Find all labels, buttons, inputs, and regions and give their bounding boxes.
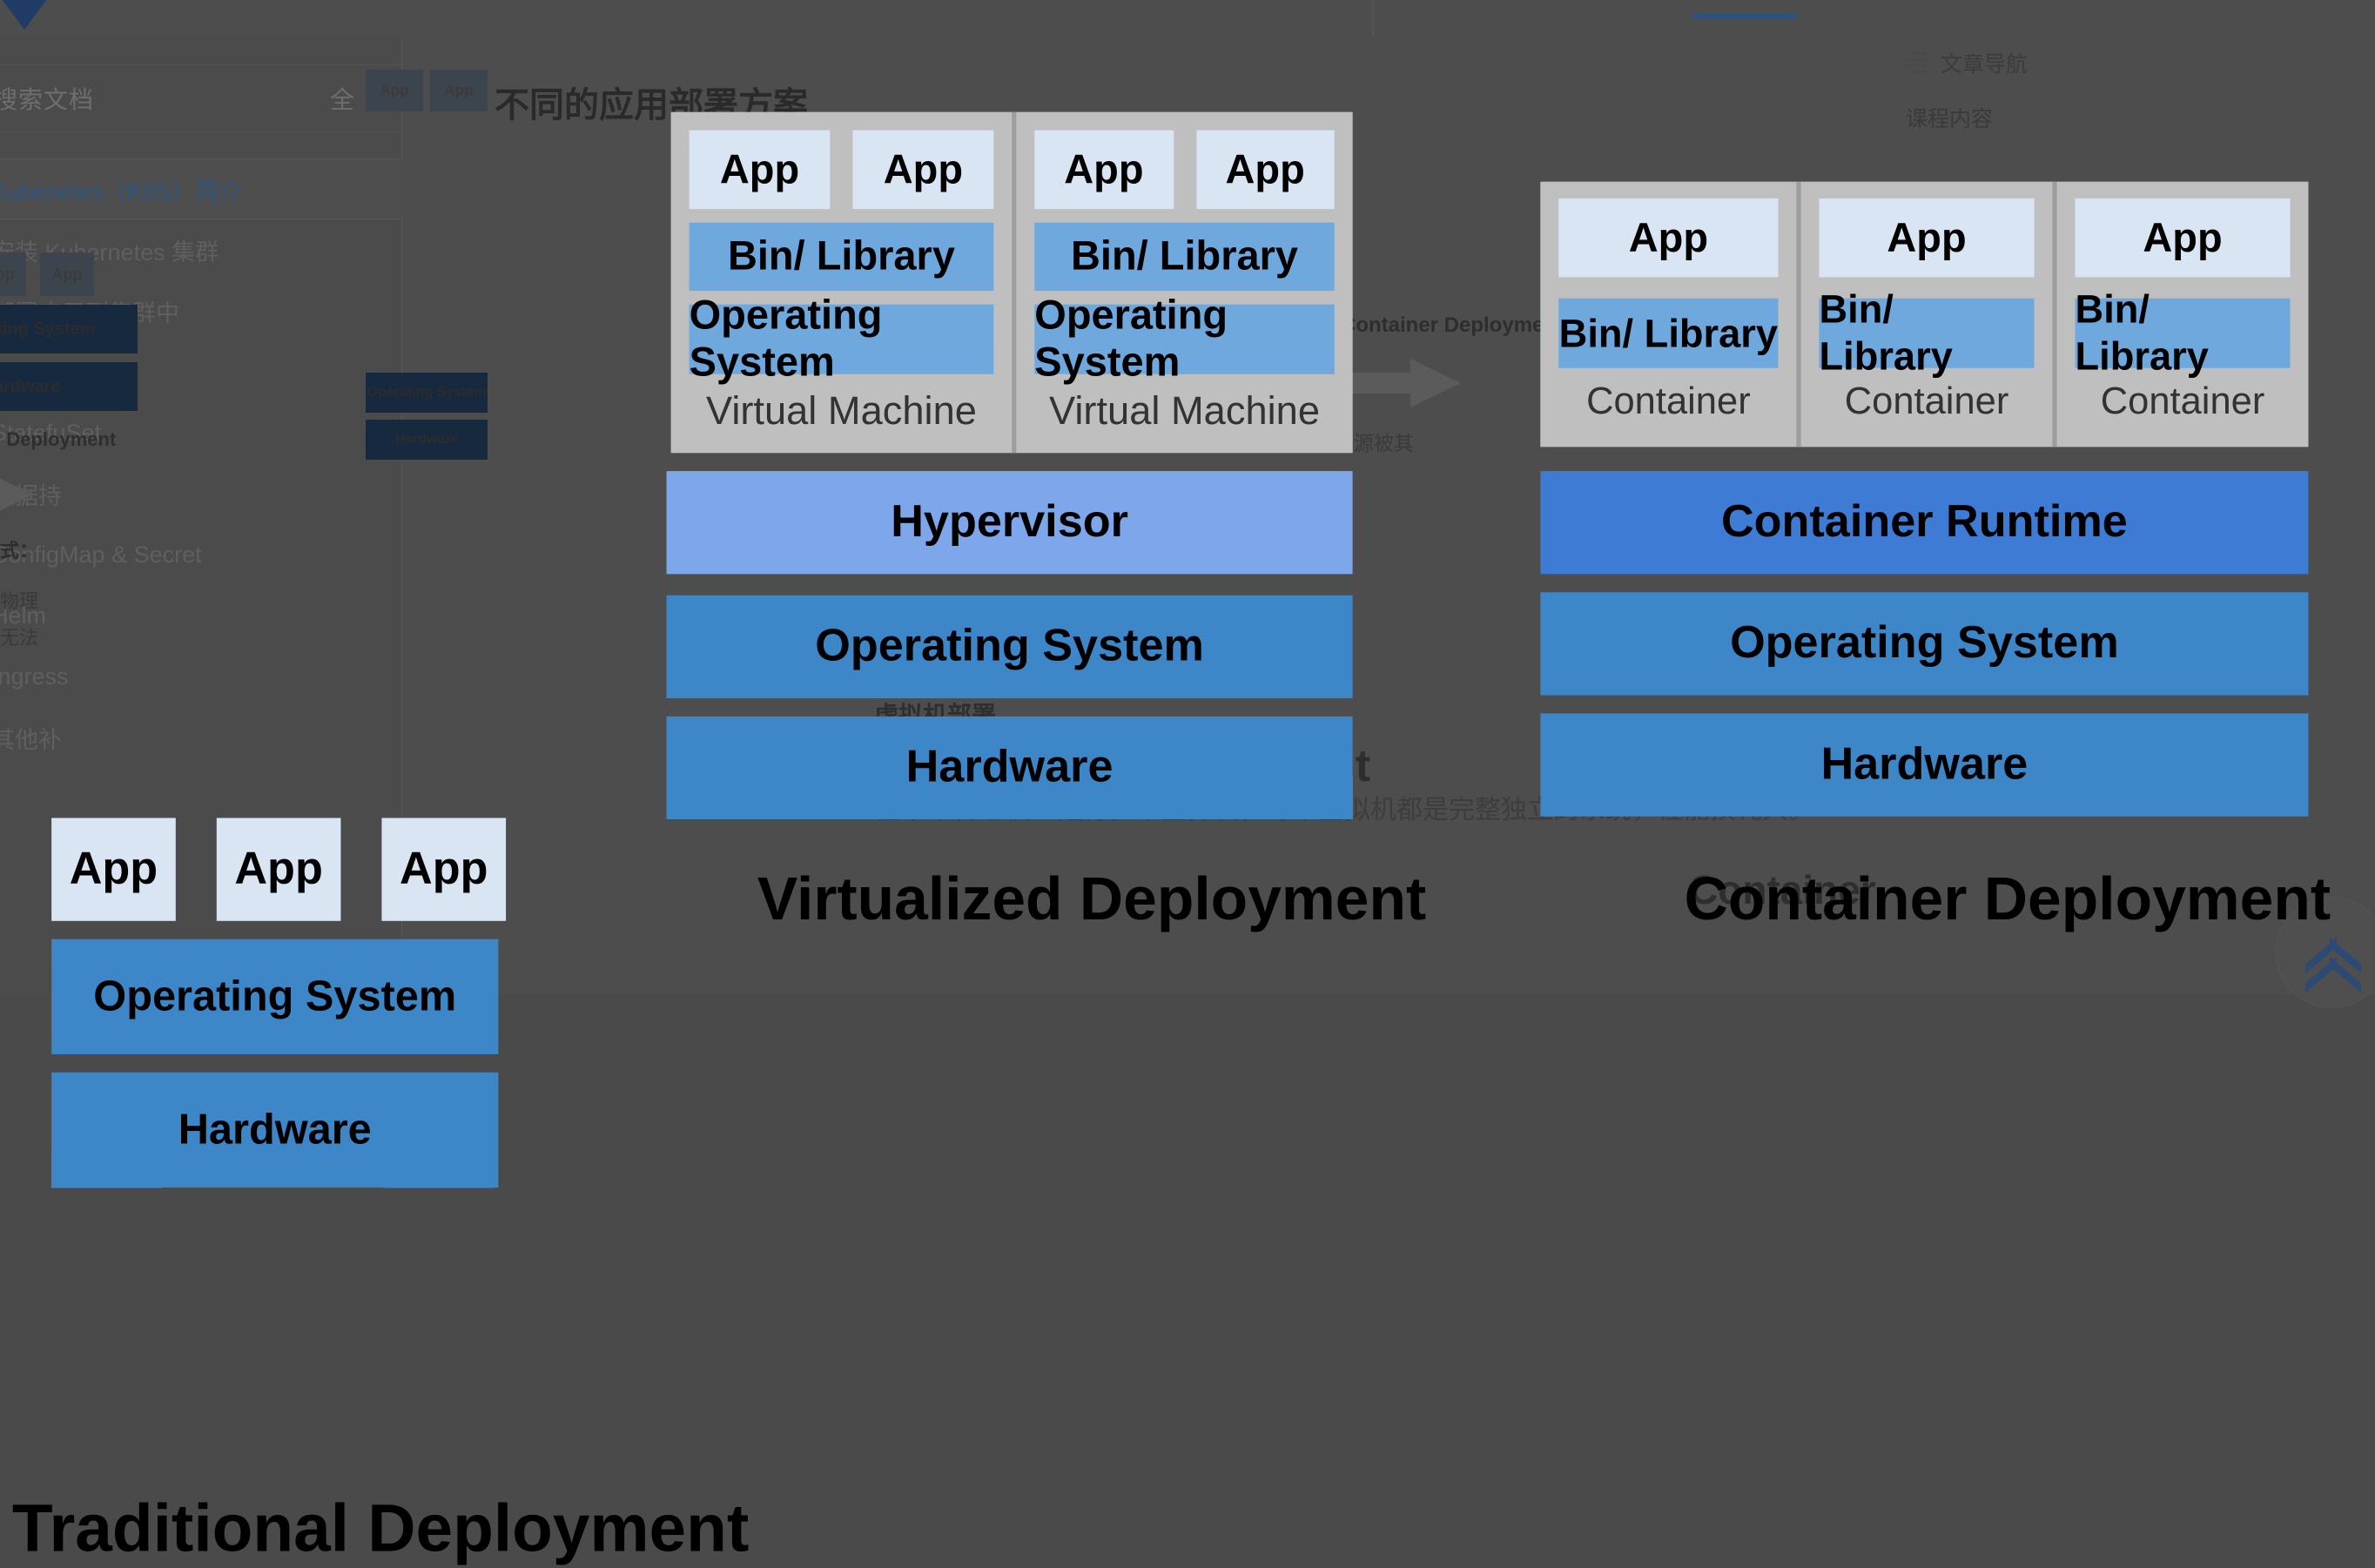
caption-container-deployment: Container Deployment bbox=[1685, 866, 2331, 934]
container3-bin-library: Bin/ Library bbox=[2076, 299, 2291, 368]
container-2: App Bin/ Library Container bbox=[1796, 182, 2052, 447]
container-1: App Bin/ Library Container bbox=[1540, 182, 1796, 447]
app-box: App bbox=[853, 131, 994, 209]
vm2-app-row: App App bbox=[1034, 131, 1334, 209]
container2-bin-library: Bin/ Library bbox=[1819, 299, 2034, 368]
virtual-machines-wrapper: App App Bin/ Library Operating System Vi… bbox=[671, 112, 1353, 453]
traditional-os-bar: Operating System bbox=[51, 939, 498, 1054]
virtualized-hardware-bar: Hardware bbox=[667, 717, 1353, 819]
virtualized-os-bar: Operating System bbox=[667, 596, 1353, 698]
vm2-bin-library: Bin/ Library bbox=[1034, 223, 1334, 291]
app-box: App bbox=[217, 818, 341, 920]
vm2-label: Virtual Machine bbox=[1034, 387, 1334, 434]
virtual-machine-2: App App Bin/ Library Operating System Vi… bbox=[1012, 112, 1352, 453]
app-box: App bbox=[1558, 199, 1778, 277]
caption-traditional-deployment: Traditional Deployment bbox=[12, 1492, 749, 1568]
hypervisor-bar: Hypervisor bbox=[667, 471, 1353, 574]
vm1-bin-library: Bin/ Library bbox=[690, 223, 994, 291]
deployment-diagram-lightbox[interactable]: App App App Operating System Hardware Tr… bbox=[0, 0, 2375, 993]
container-hardware-bar: Hardware bbox=[1540, 713, 2308, 816]
traditional-hardware-bar: Hardware bbox=[51, 1073, 498, 1188]
app-box: App bbox=[51, 818, 176, 920]
app-box: App bbox=[1819, 199, 2034, 277]
caption-virtualized-deployment: Virtualized Deployment bbox=[757, 866, 1426, 934]
container3-label: Container bbox=[2076, 380, 2291, 424]
app-box: App bbox=[2076, 199, 2291, 277]
container-os-bar: Operating System bbox=[1540, 592, 2308, 695]
app-box: App bbox=[690, 131, 831, 209]
vm2-operating-system: Operating System bbox=[1034, 305, 1334, 374]
vm1-label: Virtual Machine bbox=[690, 387, 994, 434]
app-box: App bbox=[381, 818, 506, 920]
container-3: App Bin/ Library Container bbox=[2052, 182, 2308, 447]
containers-wrapper: App Bin/ Library Container App Bin/ Libr… bbox=[1540, 182, 2308, 447]
app-box: App bbox=[1196, 131, 1335, 209]
vm1-operating-system: Operating System bbox=[690, 305, 994, 374]
virtual-machine-1: App App Bin/ Library Operating System Vi… bbox=[671, 112, 1012, 453]
container-runtime-bar: Container Runtime bbox=[1540, 471, 2308, 574]
container1-bin-library: Bin/ Library bbox=[1558, 299, 1778, 368]
vm1-app-row: App App bbox=[690, 131, 994, 209]
container1-label: Container bbox=[1558, 380, 1778, 424]
container2-label: Container bbox=[1819, 380, 2034, 424]
app-box: App bbox=[1034, 131, 1173, 209]
